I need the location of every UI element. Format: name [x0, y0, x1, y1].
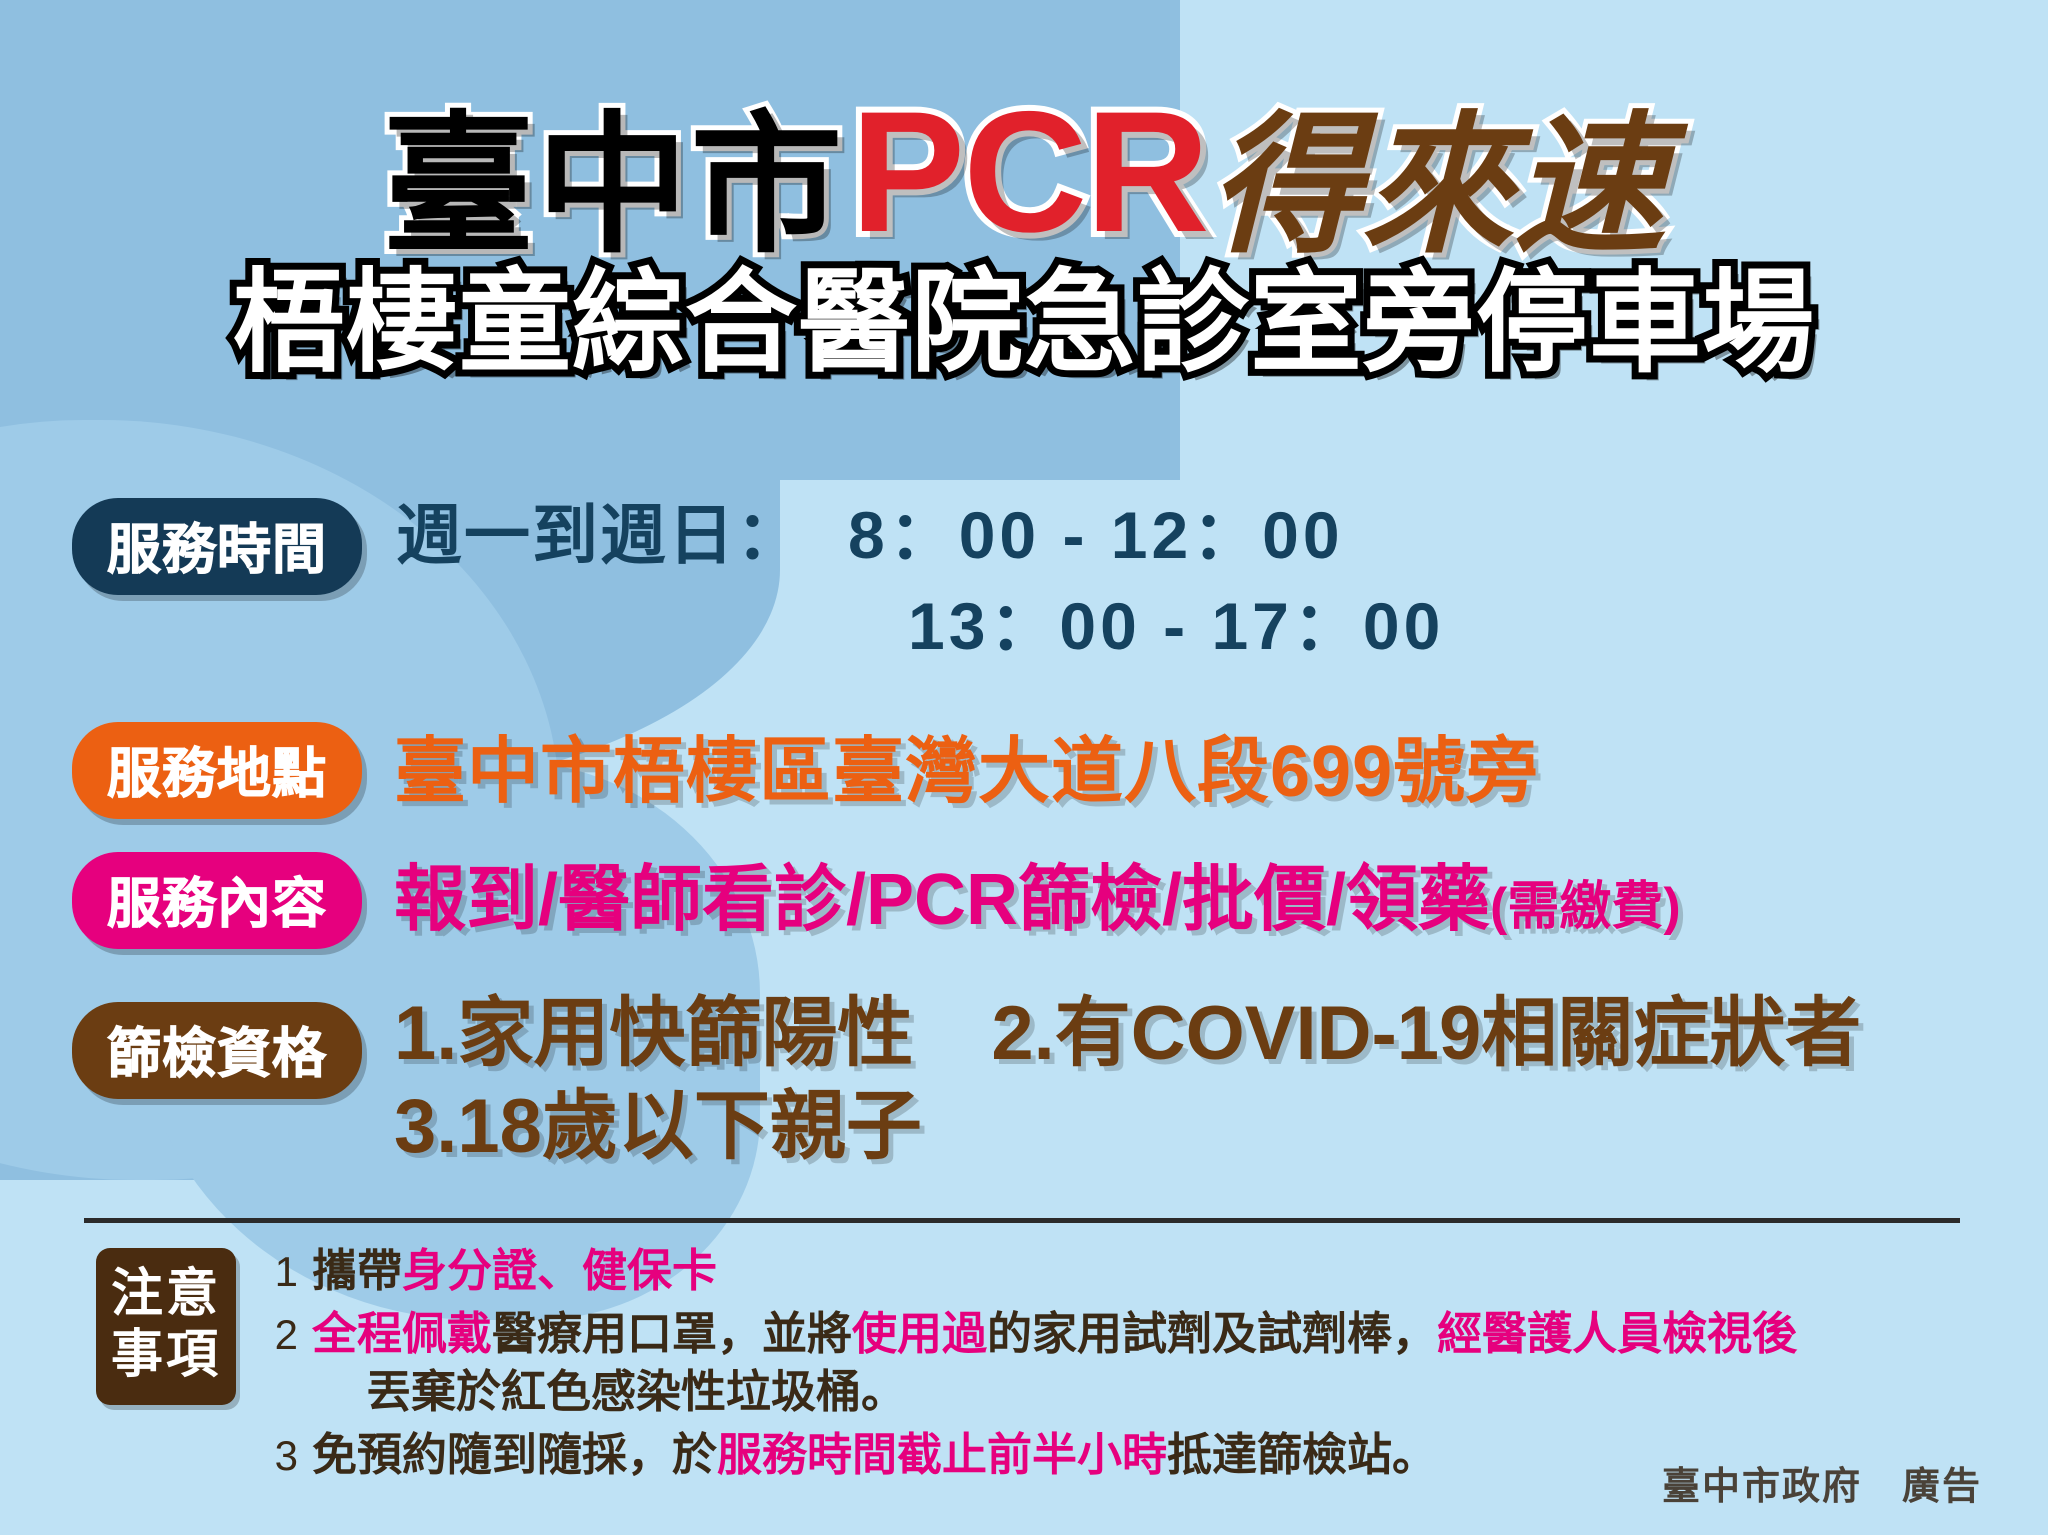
note-text-line: 全程佩戴醫療用口罩，並將使用過的家用試劑及試劑棒，經醫護人員檢視後 — [312, 1308, 1797, 1359]
note-text: 免預約隨到隨採，於服務時間截止前半小時抵達篩檢站。 — [312, 1426, 1437, 1485]
service-time-line-2: 13：00 - 17：00 — [396, 581, 1444, 672]
screening-eligibility-line-2: 3.18歲以下親子 — [394, 1081, 1861, 1174]
poster-content: 臺中市PCR得來速 梧棲童綜合醫院急診室旁停車場 服務時間 週一到週日：8：00… — [0, 0, 2048, 1535]
note-highlight: 服務時間截止前半小時 — [717, 1429, 1167, 1480]
note-continuation: 丟棄於紅色感染性垃圾桶。 — [312, 1363, 1797, 1422]
service-location-value: 臺中市梧棲區臺灣大道八段699號旁 — [394, 712, 1539, 817]
screening-eligibility-item-2: 2.有COVID-19相關症狀者 — [991, 991, 1861, 1076]
note-highlight: 全程佩戴 — [312, 1308, 492, 1359]
poster-footer: 臺中市政府 廣告 — [1662, 1455, 1982, 1510]
service-time-days: 週一到週日： — [396, 498, 804, 572]
service-content-row: 服務內容 報到/醫師看診/PCR篩檢/批價/領藥(需繳費) — [72, 852, 1681, 949]
screening-eligibility-item-3: 3.18歲以下親子 — [394, 1084, 922, 1169]
service-location-label: 服務地點 — [72, 722, 362, 819]
service-location-row: 服務地點 臺中市梧棲區臺灣大道八段699號旁 — [72, 722, 1539, 819]
screening-eligibility-item-1: 1.家用快篩陽性 — [394, 991, 913, 1076]
note-plain: 攜帶 — [312, 1245, 402, 1296]
note-plain: 醫療用口罩，並將 — [492, 1308, 852, 1359]
note-highlight: 經醫護人員檢視後 — [1437, 1308, 1797, 1359]
note-item: 1攜帶身分證、健保卡 — [258, 1242, 1797, 1301]
service-content-value: 報到/醫師看診/PCR篩檢/批價/領藥 — [394, 860, 1490, 940]
notes-badge: 注意 事項 — [96, 1248, 236, 1405]
service-time-slot-2: 13：00 - 17：00 — [908, 589, 1444, 663]
note-plain: 抵達篩檢站。 — [1167, 1429, 1437, 1480]
notes-list: 1攜帶身分證、健保卡2全程佩戴醫療用口罩，並將使用過的家用試劑及試劑棒，經醫護人… — [258, 1242, 1797, 1488]
section-divider — [84, 1218, 1960, 1223]
note-text-line: 免預約隨到隨採，於服務時間截止前半小時抵達篩檢站。 — [312, 1429, 1437, 1480]
service-time-values: 週一到週日：8：00 - 12：00 13：00 - 17：00 — [396, 490, 1444, 672]
service-time-label: 服務時間 — [72, 498, 362, 595]
poster-subtitle: 梧棲童綜合醫院急診室旁停車場 — [233, 260, 1815, 385]
notes-section: 注意 事項 1攜帶身分證、健保卡2全程佩戴醫療用口罩，並將使用過的家用試劑及試劑… — [96, 1248, 1797, 1488]
service-content-value-wrap: 報到/醫師看診/PCR篩檢/批價/領藥(需繳費) — [394, 840, 1681, 945]
note-highlight: 使用過 — [852, 1308, 987, 1359]
service-time-row: 服務時間 週一到週日：8：00 - 12：00 13：00 - 17：00 — [72, 498, 1444, 672]
service-content-label: 服務內容 — [72, 852, 362, 949]
note-text: 攜帶身分證、健保卡 — [312, 1242, 717, 1301]
notes-badge-line-1: 注意 — [96, 1264, 236, 1325]
service-time-line-1: 週一到週日：8：00 - 12：00 — [396, 490, 1444, 581]
note-plain: 的家用試劑及試劑棒， — [987, 1308, 1437, 1359]
note-highlight: 身分證、健保卡 — [402, 1245, 717, 1296]
note-number: 3 — [258, 1429, 298, 1484]
note-number: 1 — [258, 1245, 298, 1300]
note-item: 3免預約隨到隨採，於服務時間截止前半小時抵達篩檢站。 — [258, 1426, 1797, 1485]
note-item: 2全程佩戴醫療用口罩，並將使用過的家用試劑及試劑棒，經醫護人員檢視後丟棄於紅色感… — [258, 1305, 1797, 1422]
note-plain: 免預約隨到隨採，於 — [312, 1429, 717, 1480]
screening-eligibility-line-1: 1.家用快篩陽性2.有COVID-19相關症狀者 — [394, 988, 1861, 1081]
screening-eligibility-items: 1.家用快篩陽性2.有COVID-19相關症狀者 3.18歲以下親子 — [394, 988, 1861, 1173]
note-number: 2 — [258, 1308, 298, 1363]
screening-eligibility-row: 篩檢資格 1.家用快篩陽性2.有COVID-19相關症狀者 3.18歲以下親子 — [72, 1002, 1861, 1173]
service-time-slot-1: 8：00 - 12：00 — [804, 498, 1344, 572]
poster-subtitle-row: 梧棲童綜合醫院急診室旁停車場 — [0, 232, 2048, 394]
note-text: 全程佩戴醫療用口罩，並將使用過的家用試劑及試劑棒，經醫護人員檢視後丟棄於紅色感染… — [312, 1305, 1797, 1422]
note-text-line: 攜帶身分證、健保卡 — [312, 1245, 717, 1296]
notes-badge-line-2: 事項 — [96, 1325, 236, 1386]
service-content-note: (需繳費) — [1490, 878, 1681, 936]
screening-eligibility-label: 篩檢資格 — [72, 1002, 362, 1099]
